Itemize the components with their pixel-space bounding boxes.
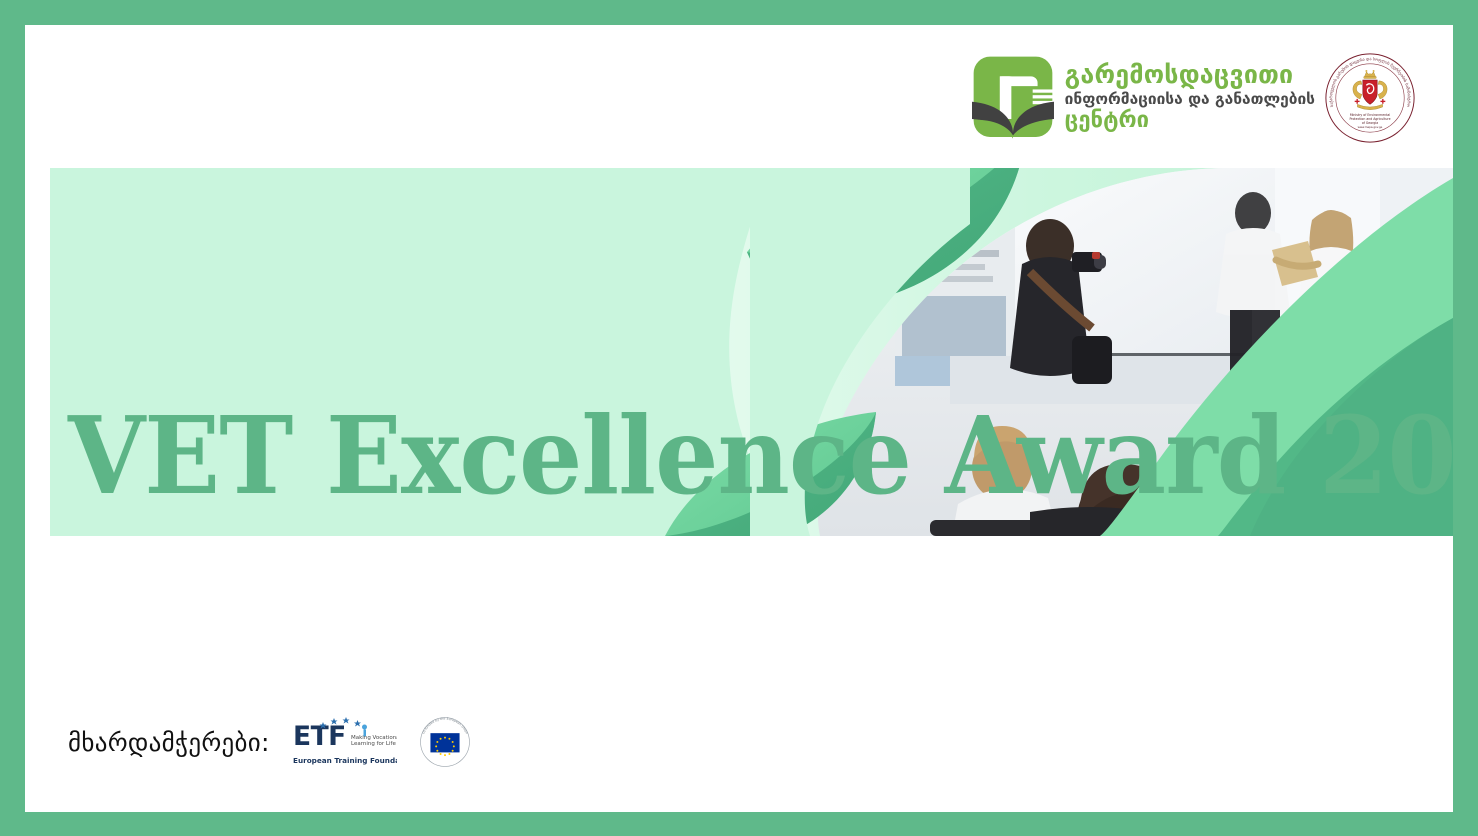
ministry-seal-icon: საქართველოს გარემოს დაცვისა და სოფლის მე… bbox=[1325, 53, 1415, 143]
poster-root: გარემოსდაცვითი ინფორმაციისა და განათლები… bbox=[0, 0, 1478, 836]
svg-text:Learning for Life: Learning for Life bbox=[351, 741, 396, 747]
poster-card: გარემოსდაცვითი ინფორმაციისა და განათლები… bbox=[25, 25, 1453, 812]
org-logo-line2: ინფორმაციისა და განათლების bbox=[1065, 92, 1315, 108]
svg-text:www.mepa.gov.ge: www.mepa.gov.ge bbox=[1358, 126, 1383, 129]
svg-text:European Training Foundation: European Training Foundation bbox=[293, 756, 397, 765]
environmental-education-centre-logo-icon bbox=[972, 55, 1054, 139]
svg-text:Making Vocational: Making Vocational bbox=[351, 735, 397, 741]
supporters-row: მხარდამჭერები: ETF Making Voca bbox=[68, 715, 471, 769]
org-logo-text: გარემოსდაცვითი ინფორმაციისა და განათლები… bbox=[1065, 62, 1315, 133]
european-union-emblem-icon: co-funded by the European Union bbox=[419, 716, 471, 768]
poster-header: გარემოსდაცვითი ინფორმაციისა და განათლები… bbox=[25, 25, 1453, 168]
etf-logo-icon: ETF Making Vocational Learning for Life bbox=[292, 715, 397, 769]
org-logo: გარემოსდაცვითი ინფორმაციისა და განათლები… bbox=[972, 55, 1315, 139]
svg-text:ETF: ETF bbox=[293, 721, 346, 752]
org-logo-line1: გარემოსდაცვითი bbox=[1065, 62, 1315, 87]
page-title: VET Excellence Award 2022 bbox=[68, 403, 1314, 510]
svg-text:of Georgia: of Georgia bbox=[1362, 121, 1378, 125]
supporters-label: მხარდამჭერები: bbox=[68, 728, 270, 757]
org-logo-line3: ცენტრი bbox=[1065, 110, 1315, 132]
